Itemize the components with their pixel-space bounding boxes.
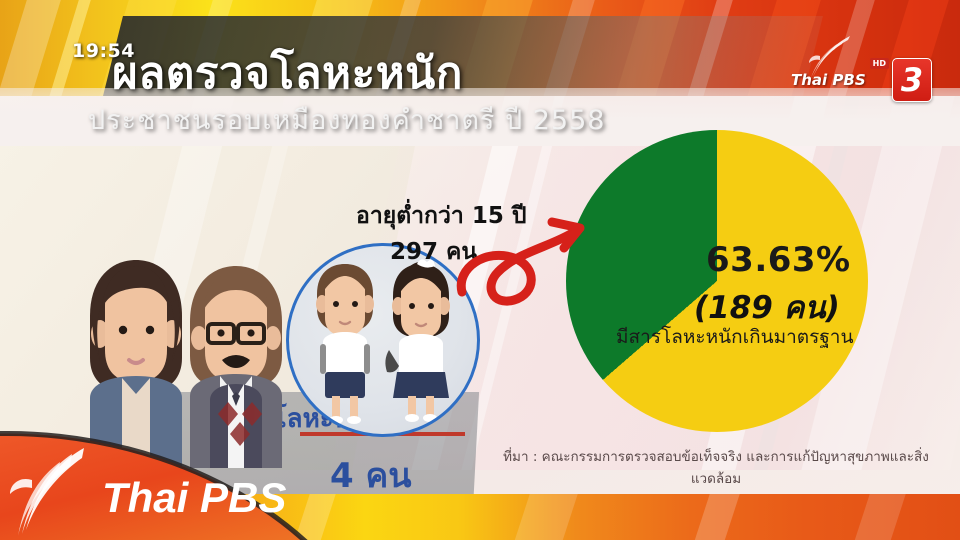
thaipbs-bird-swoosh-icon: [804, 34, 858, 86]
news-graphic-screen: 19:54 ผลตรวจโลหะหนัก ประชาชนรอบเหมืองทอง…: [0, 0, 960, 540]
pie-percent-label: 63.63%: [706, 240, 851, 280]
hd-badge: HD: [870, 58, 889, 69]
red-curved-arrow-icon: [440, 190, 610, 340]
channel-number-badge: 3: [892, 58, 932, 102]
page-subtitle: ประชาชนรอบเหมืองทองคำชาตรี ปี 2558: [88, 98, 605, 141]
pie-slices: [566, 130, 868, 432]
pie-chart: 63.63% (189 คน) มีสารโลหะหนักเกินมาตรฐาน: [566, 130, 868, 432]
pie-caption: มีสารโลหะหนักเกินมาตรฐาน: [616, 322, 853, 352]
corner-logo-banner: Thai PBS: [0, 396, 430, 540]
source-line-1: ที่มา : คณะกรรมการตรวจสอบข้อเท็จจริง และ…: [496, 446, 936, 491]
channel-logo: Thai PBS HD 3: [791, 58, 932, 102]
corner-wordmark: Thai PBS: [102, 474, 286, 521]
